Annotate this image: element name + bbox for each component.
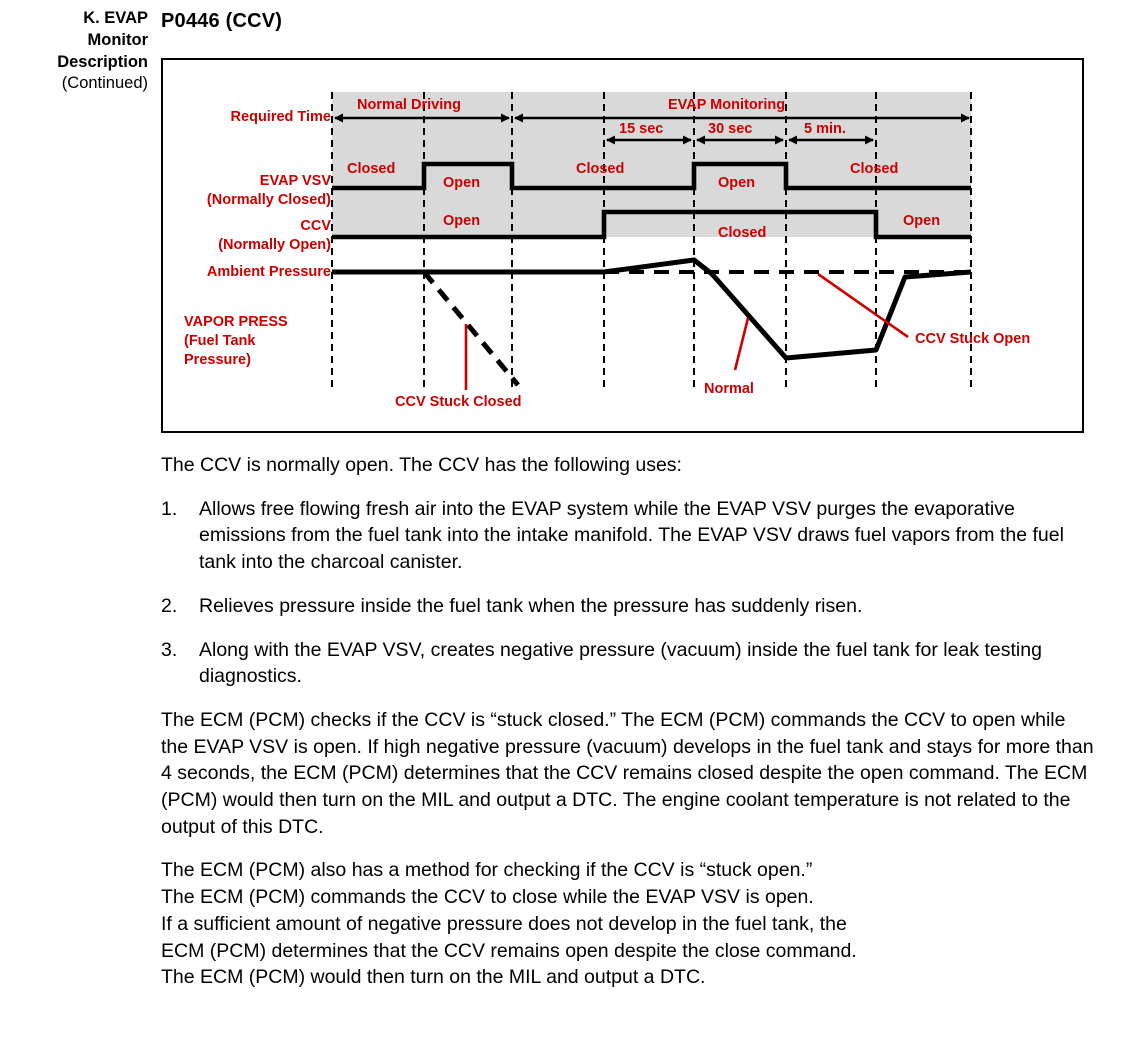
list-item: 2. Relieves pressure inside the fuel tan…: [161, 593, 1096, 620]
duration-label-30sec: 30 sec: [708, 120, 752, 139]
section-heading-continued: (Continued): [0, 73, 148, 95]
ccv-state-label-2: Closed: [718, 224, 766, 243]
paragraph-stuck-open-line: The ECM (PCM) also has a method for chec…: [161, 857, 1096, 884]
callout-normal: Normal: [704, 380, 754, 399]
section-heading-line-3: Description: [0, 52, 148, 74]
row-label-ccv: CCV: [159, 217, 331, 236]
section-heading-line-1: K. EVAP: [0, 8, 148, 30]
vsv-state-label-3: Closed: [576, 160, 624, 179]
vsv-state-label-1: Closed: [347, 160, 395, 179]
paragraph-stuck-open-line: If a sufficient amount of negative press…: [161, 911, 1096, 938]
list-item: 1. Allows free flowing fresh air into th…: [161, 496, 1096, 576]
row-label-vapor-press-line1: VAPOR PRESS: [184, 313, 288, 332]
list-item-text: Allows free flowing fresh air into the E…: [199, 498, 1064, 573]
callout-ccv-stuck-closed: CCV Stuck Closed: [395, 393, 522, 412]
list-item-number: 3.: [161, 637, 177, 664]
row-label-vapor-press-line2: (Fuel Tank: [184, 332, 255, 351]
paragraph-stuck-closed: The ECM (PCM) checks if the CCV is “stuc…: [161, 707, 1096, 841]
section-heading: K. EVAP Monitor Description (Continued): [0, 8, 148, 95]
row-label-ccv-sub: (Normally Open): [159, 236, 331, 255]
row-label-ambient-pressure: Ambient Pressure: [159, 263, 331, 282]
page-title: P0446 (CCV): [161, 10, 282, 33]
list-item-number: 2.: [161, 593, 177, 620]
row-label-required-time: Required Time: [159, 108, 331, 127]
duration-label-15sec: 15 sec: [619, 120, 663, 139]
ccv-state-label-1: Open: [443, 212, 480, 231]
uses-list: 1. Allows free flowing fresh air into th…: [161, 496, 1096, 690]
normal-leader-line: [735, 318, 748, 370]
row-label-vapor-press-line3: Pressure): [184, 351, 251, 370]
callout-ccv-stuck-open: CCV Stuck Open: [915, 330, 1030, 349]
ccv-state-label-3: Open: [903, 212, 940, 231]
list-item-text: Along with the EVAP VSV, creates negativ…: [199, 639, 1042, 688]
paragraph-stuck-open-line: The ECM (PCM) commands the CCV to close …: [161, 884, 1096, 911]
timing-diagram-figure: Required Time EVAP VSV (Normally Closed)…: [161, 58, 1084, 433]
body-copy: The CCV is normally open. The CCV has th…: [161, 452, 1096, 991]
paragraph-stuck-open-line: ECM (PCM) determines that the CCV remain…: [161, 938, 1096, 965]
row-label-evap-vsv: EVAP VSV: [159, 172, 331, 191]
ccv-stuck-closed-trace: [424, 272, 518, 385]
vsv-state-label-2: Open: [443, 174, 480, 193]
phase-label-evap-monitoring: EVAP Monitoring: [668, 96, 785, 115]
paragraph-stuck-open-line: The ECM (PCM) would then turn on the MIL…: [161, 964, 1096, 991]
phase-label-normal-driving: Normal Driving: [357, 96, 461, 115]
intro-paragraph: The CCV is normally open. The CCV has th…: [161, 452, 1096, 479]
paragraph-stuck-open: The ECM (PCM) also has a method for chec…: [161, 857, 1096, 991]
list-item: 3. Along with the EVAP VSV, creates nega…: [161, 637, 1096, 690]
list-item-text: Relieves pressure inside the fuel tank w…: [199, 595, 862, 617]
duration-label-5min: 5 min.: [804, 120, 846, 139]
section-heading-line-2: Monitor: [0, 30, 148, 52]
list-item-number: 1.: [161, 496, 177, 523]
row-label-evap-vsv-sub: (Normally Closed): [159, 191, 331, 210]
vsv-state-label-4: Open: [718, 174, 755, 193]
vsv-state-label-5: Closed: [850, 160, 898, 179]
